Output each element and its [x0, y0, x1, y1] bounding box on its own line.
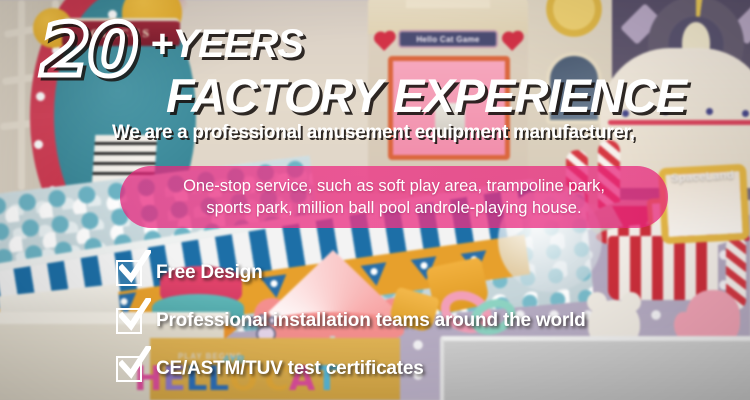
checkbox-checked-icon — [116, 260, 142, 286]
promotional-banner: CIRCUS Hello Cat Game — [0, 0, 750, 400]
feature-label: CE/ASTM/TUV test certificates — [156, 358, 424, 380]
feature-label: Free Design — [156, 262, 263, 284]
feature-label: Professional installation teams around t… — [156, 310, 586, 332]
headline-line2: FACTORY EXPERIENCE — [166, 68, 686, 123]
subheadline: We are a professional amusement equipmen… — [112, 122, 635, 144]
headline-block: 20 +YEERS FACTORY EXPERIENCE — [40, 16, 720, 72]
checkbox-checked-icon — [116, 356, 142, 382]
check-mark-icon — [119, 298, 151, 332]
pink-highlight-band: One-stop service, such as soft play area… — [120, 166, 668, 228]
check-mark-icon — [119, 346, 151, 380]
years-label: +YEERS — [150, 22, 303, 67]
check-mark-icon — [119, 250, 151, 284]
feature-item: CE/ASTM/TUV test certificates — [116, 348, 586, 390]
text-overlay: 20 +YEERS FACTORY EXPERIENCE We are a pr… — [0, 0, 750, 400]
years-number: 20 — [40, 14, 136, 86]
checkbox-checked-icon — [116, 308, 142, 334]
pink-band-line1: One-stop service, such as soft play area… — [183, 175, 605, 197]
feature-list: Free Design Professional installation te… — [116, 252, 586, 396]
pink-band-line2: sports park, million ball pool androle-p… — [206, 197, 581, 219]
feature-item: Professional installation teams around t… — [116, 300, 586, 342]
feature-item: Free Design — [116, 252, 586, 294]
